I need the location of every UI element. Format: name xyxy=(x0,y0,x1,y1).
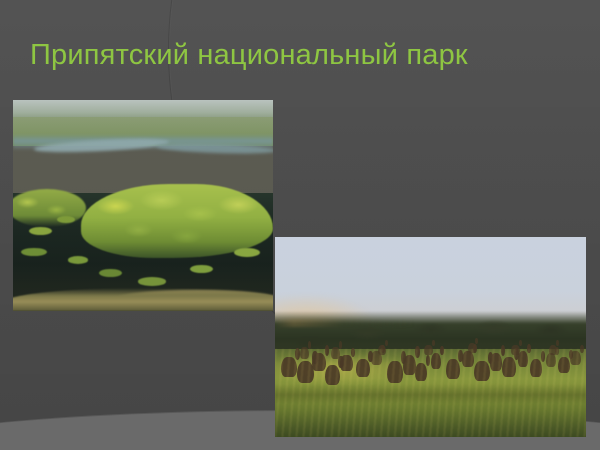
aerial-islet xyxy=(68,256,89,264)
aerial-islet xyxy=(21,248,47,256)
aerial-islet xyxy=(29,227,52,235)
slide-title: Припятский национальный парк xyxy=(30,36,575,74)
meadow-treeline-rim-light xyxy=(275,319,586,327)
presentation-slide: Припятский национальный парк xyxy=(0,0,600,450)
aerial-wetland-photo[interactable] xyxy=(13,100,273,311)
aerial-islet xyxy=(138,277,167,285)
aerial-islet xyxy=(190,265,213,273)
aerial-left-bushes xyxy=(13,189,86,227)
aerial-shoreline xyxy=(13,288,273,311)
aerial-islet xyxy=(234,248,260,257)
meadow-grass-texture xyxy=(275,349,586,437)
deer-herd-photo[interactable] xyxy=(275,237,586,437)
